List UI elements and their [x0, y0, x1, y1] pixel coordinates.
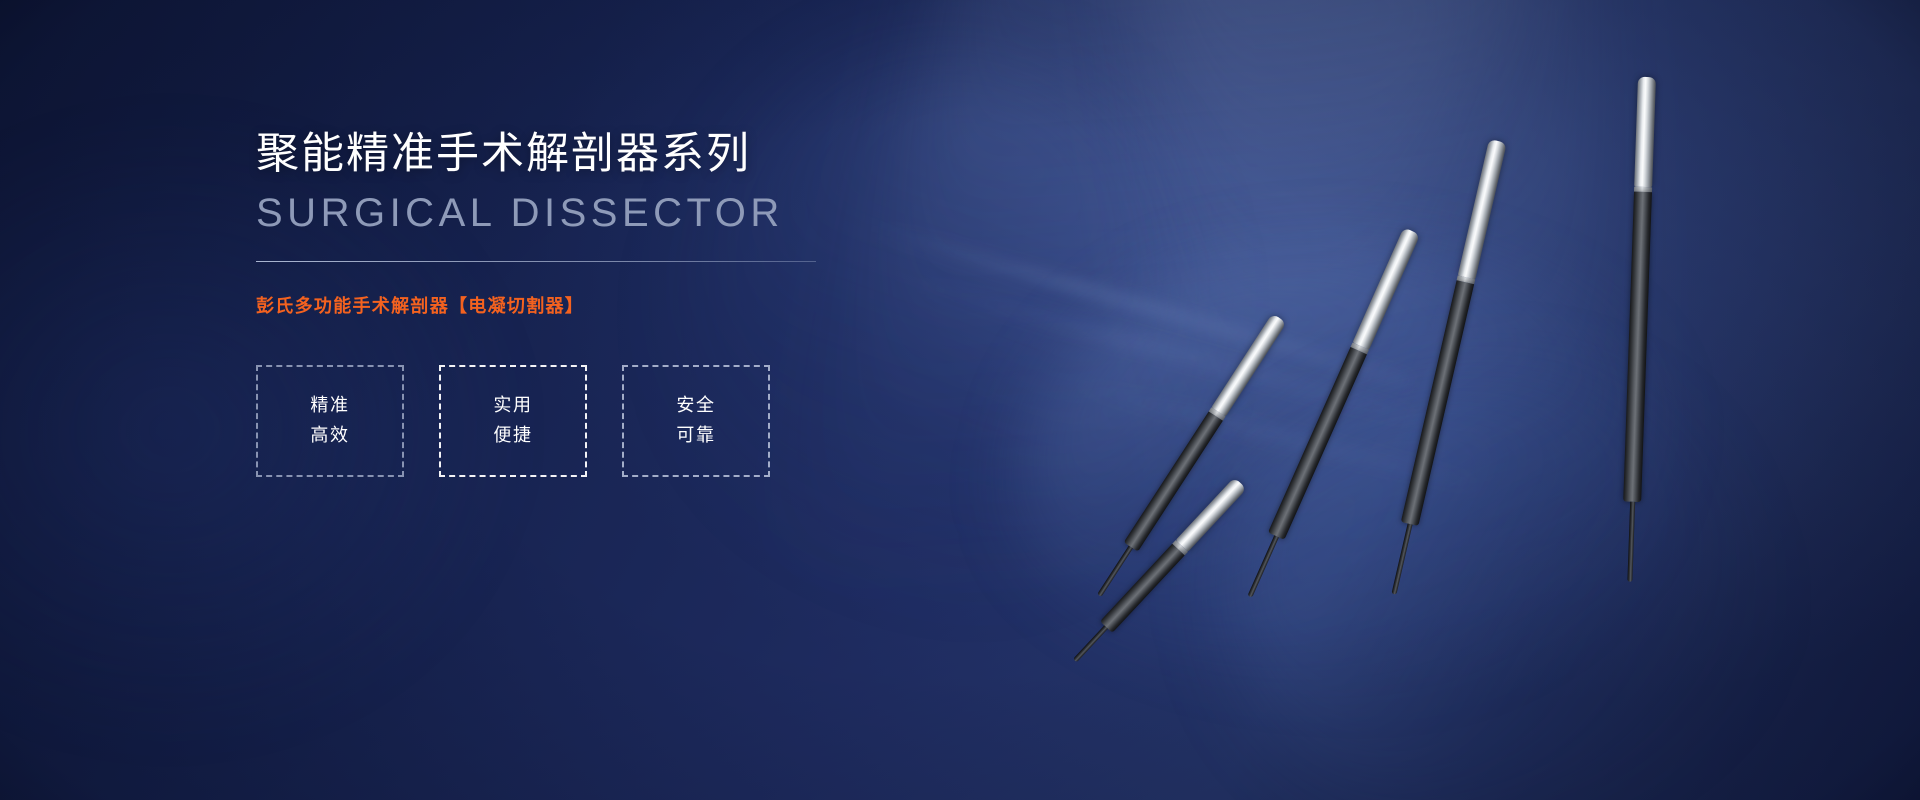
feature-badge-safety[interactable]: 安全 可靠	[622, 365, 770, 477]
dissector-probe-1	[1069, 477, 1247, 666]
background-blur-shape-a	[1020, 250, 1660, 680]
dissector-probe-5	[1620, 77, 1656, 582]
instrument-tip	[1391, 523, 1412, 594]
instrument-handle	[1458, 139, 1507, 279]
instrument-collar	[1172, 540, 1188, 555]
instrument-tip	[1073, 625, 1108, 662]
instrument-handle	[1176, 477, 1247, 551]
dissector-probe-2	[1092, 313, 1287, 600]
background-ghost-instrument-3	[1065, 379, 1474, 487]
instrument-tip	[1247, 535, 1278, 597]
feature-badge-precision[interactable]: 精准 高效	[256, 365, 404, 477]
instrument-shaft	[1124, 411, 1223, 551]
dissector-probe-4	[1385, 139, 1507, 596]
instrument-shaft	[1623, 192, 1652, 502]
hero-content: 聚能精准手术解剖器系列 SURGICAL DISSECTOR 彭氏多功能手术解剖…	[256, 128, 896, 477]
feature-badge-practical[interactable]: 实用 便捷	[439, 365, 587, 477]
instrument-handle	[1211, 313, 1286, 416]
page-title-cn: 聚能精准手术解剖器系列	[256, 128, 896, 180]
dissector-probe-3	[1241, 227, 1420, 600]
background-ghost-instrument-1	[869, 223, 1410, 387]
feature-badge-line1: 安全	[676, 395, 715, 417]
instrument-shaft	[1401, 280, 1474, 526]
instrument-shaft	[1268, 347, 1367, 540]
background-ghost-instrument-2	[908, 278, 1412, 420]
feature-badge-line1: 精准	[310, 395, 349, 417]
instrument-collar	[1634, 187, 1652, 193]
instrument-shaft	[1100, 544, 1185, 633]
instrument-handle	[1634, 77, 1656, 188]
instrument-collar	[1457, 275, 1476, 284]
title-divider	[256, 261, 816, 262]
feature-badge-line2: 可靠	[676, 425, 715, 447]
feature-badge-group: 精准 高效 实用 便捷 安全 可靠	[256, 365, 896, 477]
instrument-handle	[1353, 227, 1421, 349]
instrument-collar	[1350, 342, 1368, 354]
page-title-en: SURGICAL DISSECTOR	[256, 190, 896, 236]
instrument-collar	[1209, 407, 1226, 420]
feature-badge-line2: 便捷	[493, 425, 532, 447]
background-light-beam-2	[1127, 0, 1654, 722]
feature-badge-line2: 高效	[310, 425, 349, 447]
instrument-tip	[1627, 502, 1635, 582]
background-blur-shape-b	[1230, 380, 1750, 800]
feature-badge-line1: 实用	[493, 395, 532, 417]
hero-banner: 聚能精准手术解剖器系列 SURGICAL DISSECTOR 彭氏多功能手术解剖…	[0, 0, 1920, 800]
product-subtitle: 彭氏多功能手术解剖器【电凝切割器】	[256, 292, 896, 318]
instrument-tip	[1097, 546, 1133, 597]
